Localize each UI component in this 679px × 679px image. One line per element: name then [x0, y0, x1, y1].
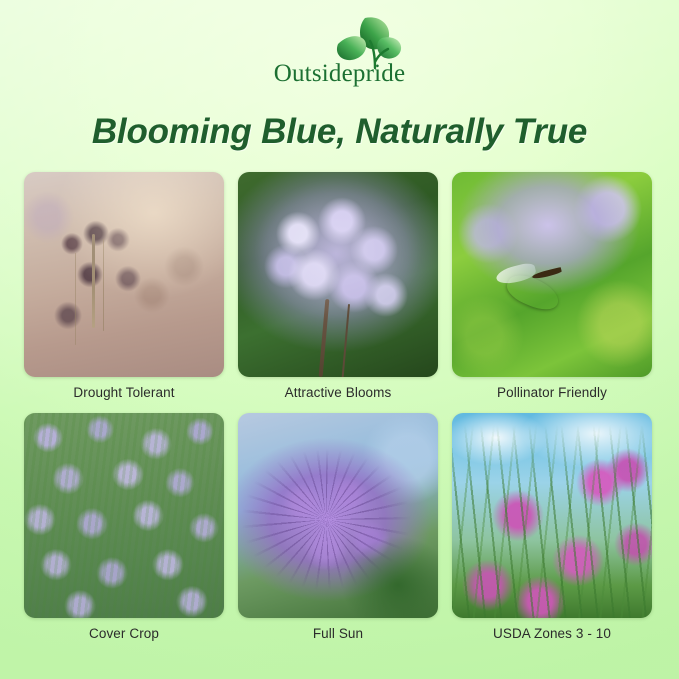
gallery-item: USDA Zones 3 - 10: [452, 413, 652, 642]
feature-caption: Attractive Blooms: [238, 386, 438, 401]
gallery-item: Attractive Blooms: [238, 172, 438, 401]
feature-image-drought-tolerant: [24, 172, 224, 377]
feature-caption: Full Sun: [238, 627, 438, 642]
purple-phacelia-closeup-blue-sky-photo: [238, 413, 438, 618]
dried-phacelia-seedheads-backlit-photo: [24, 172, 224, 377]
feature-gallery-grid: Drought Tolerant Attractive Blooms Polli…: [24, 172, 656, 642]
feature-caption: Cover Crop: [24, 627, 224, 642]
brand-header: Outsidepride: [0, 12, 679, 92]
gallery-item: Pollinator Friendly: [452, 172, 652, 401]
brand-wordmark: Outsidepride: [235, 61, 445, 86]
gallery-item: Drought Tolerant: [24, 172, 224, 401]
page-title: Blooming Blue, Naturally True: [0, 113, 679, 152]
feature-image-usda-zones: [452, 413, 652, 618]
feature-caption: Drought Tolerant: [24, 386, 224, 401]
honeybee-on-phacelia-bloom-photo: [452, 172, 652, 377]
feature-image-full-sun: [238, 413, 438, 618]
feature-image-attractive-blooms: [238, 172, 438, 377]
feature-caption: Pollinator Friendly: [452, 386, 652, 401]
feature-caption: USDA Zones 3 - 10: [452, 627, 652, 642]
gallery-item: Cover Crop: [24, 413, 224, 642]
product-infographic-page: Outsidepride Blooming Blue, Naturally Tr…: [0, 0, 679, 679]
gallery-item: Full Sun: [238, 413, 438, 642]
feature-image-cover-crop: [24, 413, 224, 618]
phacelia-field-cover-crop-photo: [24, 413, 224, 618]
brand-logo: Outsidepride: [235, 12, 445, 92]
lavender-phacelia-flower-cluster-photo: [238, 172, 438, 377]
feature-image-pollinator-friendly: [452, 172, 652, 377]
pink-wildflowers-against-sky-photo: [452, 413, 652, 618]
